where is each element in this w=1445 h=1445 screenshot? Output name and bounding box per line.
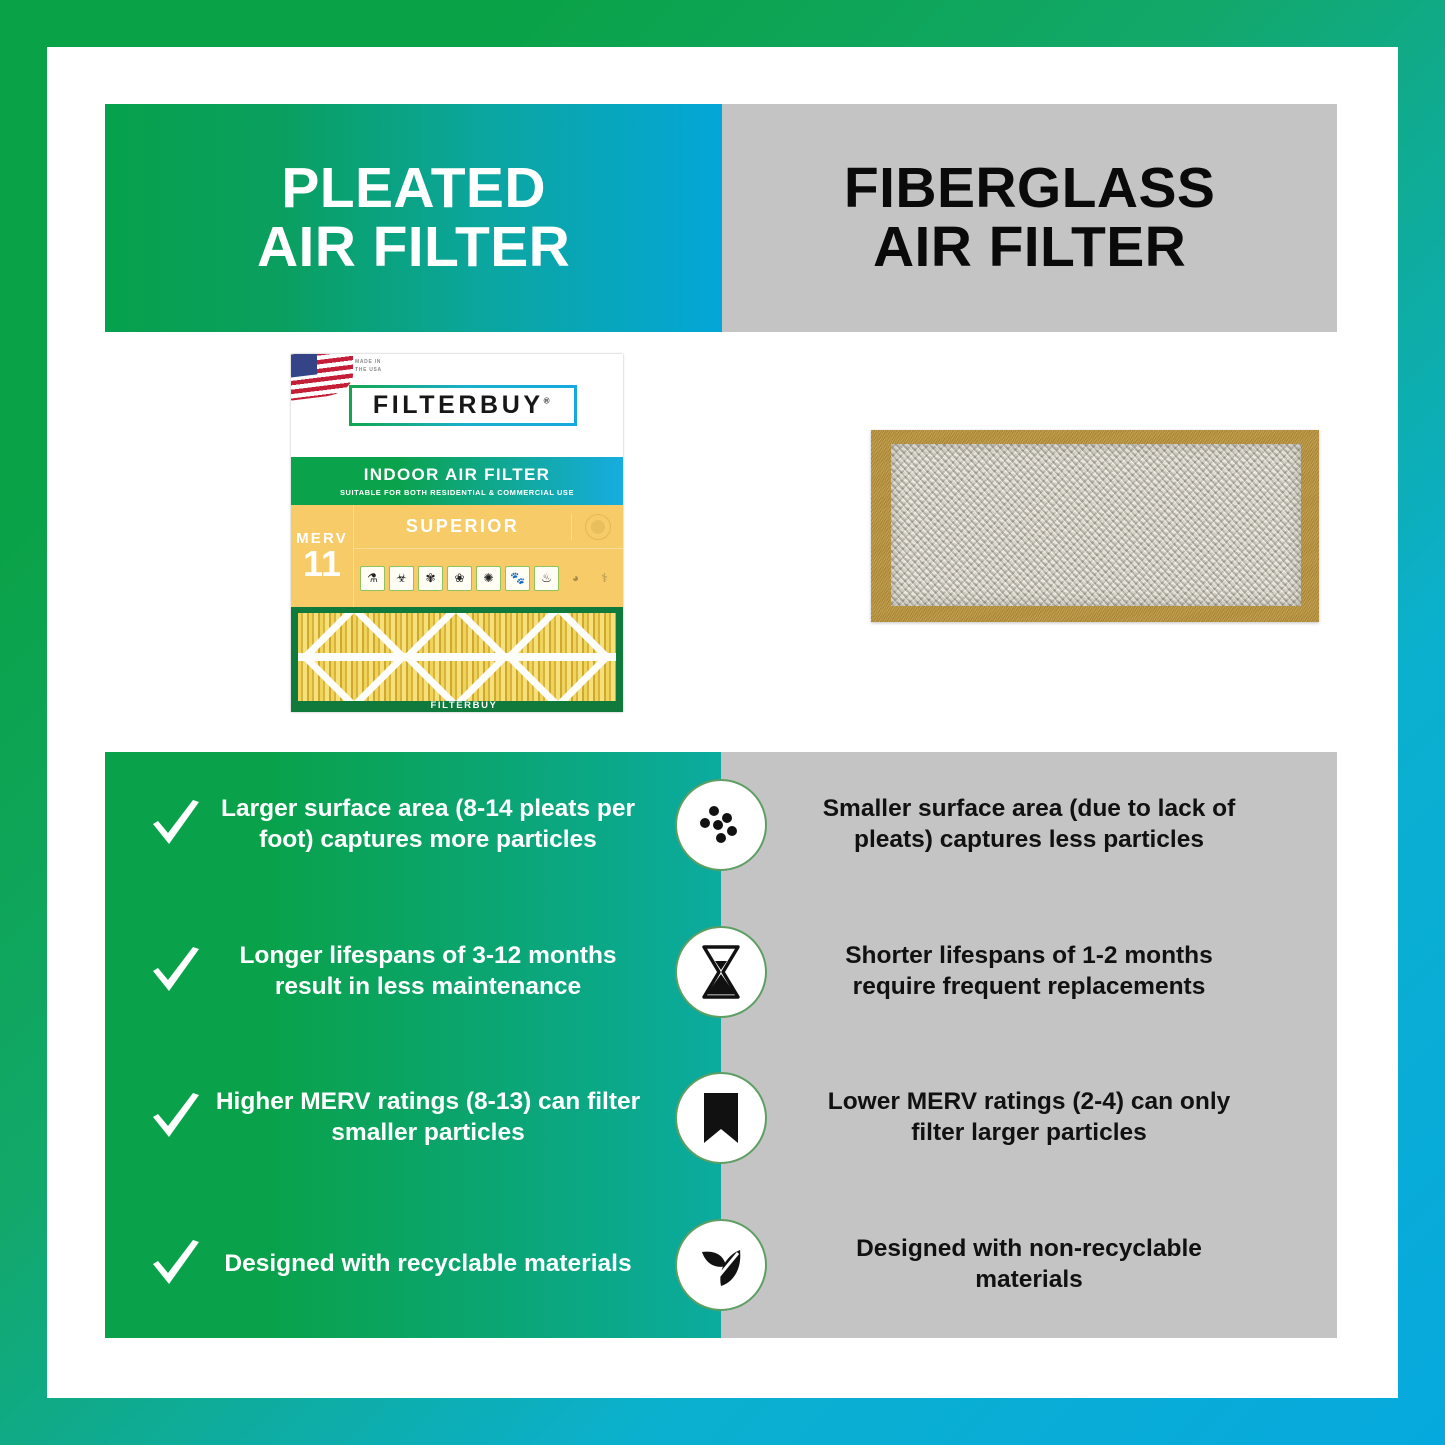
smoke-icon: ♨: [534, 566, 559, 591]
row-right-fiberglass: Designed with non-recyclable materials: [721, 1192, 1337, 1339]
comparison-row: Longer lifespans of 3-12 months result i…: [105, 899, 1337, 1046]
row-right-fiberglass: Lower MERV ratings (2-4) can only filter…: [721, 1045, 1337, 1192]
odor-icon: ◕: [563, 566, 588, 591]
brand-logo-frame: FILTERBUY®: [349, 385, 577, 426]
header-band: PLEATED AIR FILTER FIBERGLASS AIR FILTER: [105, 104, 1337, 332]
made-in-usa-text: MADE IN THE USA: [355, 359, 382, 374]
leaf-icon: [675, 1219, 767, 1311]
row-left-pleated: Longer lifespans of 3-12 months result i…: [105, 899, 721, 1046]
checkmark-icon: [141, 947, 211, 997]
checkmark-icon: [141, 1093, 211, 1143]
comparison-table: Larger surface area (8-14 pleats per foo…: [105, 752, 1337, 1338]
bookmark-icon: [675, 1072, 767, 1164]
pollen-icon: ❀: [447, 566, 472, 591]
box-top-section: MADE IN THE USA FILTERBUY®: [291, 354, 623, 457]
header-fiberglass: FIBERGLASS AIR FILTER: [722, 104, 1337, 332]
header-pleated-line1: PLEATED: [281, 159, 546, 218]
certification-seal: [571, 514, 623, 540]
box-indoor-band: INDOOR AIR FILTER SUITABLE FOR BOTH RESI…: [291, 457, 623, 505]
row-right-text: Shorter lifespans of 1-2 months require …: [721, 941, 1337, 1003]
filterbuy-box-image: MADE IN THE USA FILTERBUY® INDOOR AIR FI…: [291, 354, 623, 712]
row-right-fiberglass: Smaller surface area (due to lack of ple…: [721, 752, 1337, 899]
particles-icon: [675, 779, 767, 871]
support-diamond: [402, 613, 509, 701]
comparison-row: Designed with recyclable materials Desig…: [105, 1192, 1337, 1339]
row-right-fiberglass: Shorter lifespans of 1-2 months require …: [721, 899, 1337, 1046]
checkmark-icon: [141, 1240, 211, 1290]
support-diamond: [504, 613, 611, 701]
row-left-pleated: Higher MERV ratings (8-13) can filter sm…: [105, 1045, 721, 1192]
product-images-row: MADE IN THE USA FILTERBUY® INDOOR AIR FI…: [105, 332, 1337, 752]
row-right-text: Designed with non-recyclable materials: [721, 1234, 1337, 1296]
row-left-text: Longer lifespans of 3-12 months result i…: [211, 941, 721, 1003]
merv-value: 11: [303, 547, 341, 582]
box-brand-footer: FILTERBUY: [298, 700, 623, 711]
row-right-text: Lower MERV ratings (2-4) can only filter…: [721, 1087, 1337, 1149]
header-pleated: PLEATED AIR FILTER: [105, 104, 722, 332]
fiberglass-filter-image: [871, 430, 1319, 622]
bacteria-icon: ✾: [418, 566, 443, 591]
row-left-pleated: Larger surface area (8-14 pleats per foo…: [105, 752, 721, 899]
capture-icon-row: ⚗ ☣ ✾ ❀ ✺ 🐾 ♨ ◕ ⚕: [354, 549, 623, 607]
row-left-text: Larger surface area (8-14 pleats per foo…: [211, 794, 721, 856]
header-pleated-line2: AIR FILTER: [257, 218, 570, 277]
row-left-text: Higher MERV ratings (8-13) can filter sm…: [211, 1087, 721, 1149]
box-band-subtitle: SUITABLE FOR BOTH RESIDENTIAL & COMMERCI…: [340, 488, 574, 497]
row-right-text: Smaller surface area (due to lack of ple…: [721, 794, 1337, 856]
pleated-media: [298, 613, 616, 701]
pet-dander-icon: 🐾: [505, 566, 530, 591]
box-merv-section: MERV 11 SUPERIOR ⚗ ☣ ✾ ❀ ✺: [291, 505, 623, 607]
box-filter-media: FILTERBUY: [291, 607, 623, 712]
made-in-line2: THE USA: [355, 367, 382, 375]
header-fiberglass-line2: AIR FILTER: [873, 218, 1186, 277]
brand-name: FILTERBUY: [373, 391, 544, 419]
merv-badge: MERV 11: [291, 505, 354, 607]
brand-logo-text: FILTERBUY®: [373, 391, 553, 420]
dust-icon: ⚗: [360, 566, 385, 591]
comparison-row: Larger surface area (8-14 pleats per foo…: [105, 752, 1337, 899]
box-tier-row: SUPERIOR: [354, 505, 623, 549]
mold-icon: ✺: [476, 566, 501, 591]
box-tier-and-icons: SUPERIOR ⚗ ☣ ✾ ❀ ✺ 🐾 ♨ ◕ ⚕: [354, 505, 623, 607]
made-in-line1: MADE IN: [355, 359, 382, 367]
us-flag-icon: [291, 354, 353, 401]
checkmark-icon: [141, 800, 211, 850]
support-diamond: [300, 613, 407, 701]
trademark-symbol: ®: [544, 397, 554, 406]
infographic-card: PLEATED AIR FILTER FIBERGLASS AIR FILTER…: [47, 47, 1398, 1398]
comparison-row: Higher MERV ratings (8-13) can filter sm…: [105, 1045, 1337, 1192]
virus-icon: ⚕: [592, 566, 617, 591]
row-left-pleated: Designed with recyclable materials: [105, 1192, 721, 1339]
box-band-title: INDOOR AIR FILTER: [364, 465, 550, 485]
row-left-text: Designed with recyclable materials: [211, 1249, 721, 1280]
seal-icon: [585, 514, 611, 540]
hourglass-icon: [675, 926, 767, 1018]
fiberglass-mesh: [891, 444, 1301, 606]
header-fiberglass-line1: FIBERGLASS: [844, 159, 1215, 218]
box-tier-label: SUPERIOR: [354, 516, 571, 537]
insect-icon: ☣: [389, 566, 414, 591]
